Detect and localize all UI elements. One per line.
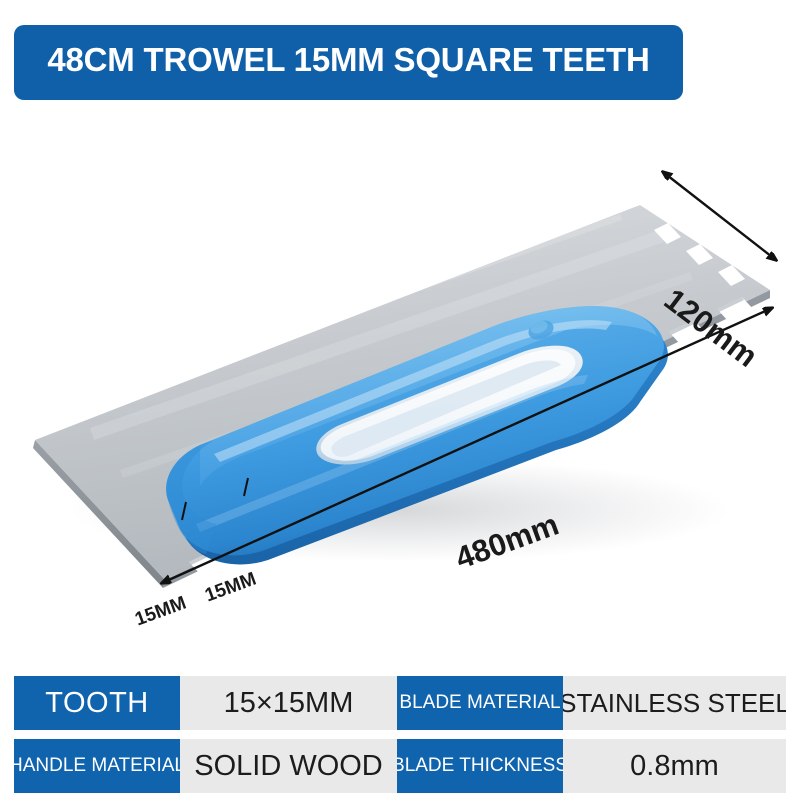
page-title: 48CM TROWEL 15MM SQUARE TEETH — [47, 41, 649, 79]
spec-value-handle-material: SOLID WOOD — [180, 739, 397, 793]
spec-label-tooth: TOOTH — [14, 676, 180, 730]
title-banner: 48CM TROWEL 15MM SQUARE TEETH — [14, 25, 683, 100]
spec-value-blade-material: STAINLESS STEEL — [563, 676, 786, 730]
spec-label-blade-material: BLADE MATERIAL — [397, 676, 563, 730]
spec-value-blade-thickness: 0.8mm — [563, 739, 786, 793]
product-image: 120mm 480mm 15MM 15MM — [0, 110, 800, 655]
spec-label-handle-material: HANDLE MATERIAL — [14, 739, 180, 793]
spec-table: TOOTH 15×15MM BLADE MATERIAL STAINLESS S… — [14, 676, 786, 793]
spec-row: TOOTH 15×15MM BLADE MATERIAL STAINLESS S… — [14, 676, 786, 730]
spec-label-blade-thickness: BLADE THICKNESS — [397, 739, 563, 793]
spec-row: HANDLE MATERIAL SOLID WOOD BLADE THICKNE… — [14, 739, 786, 793]
spec-value-tooth: 15×15MM — [180, 676, 397, 730]
